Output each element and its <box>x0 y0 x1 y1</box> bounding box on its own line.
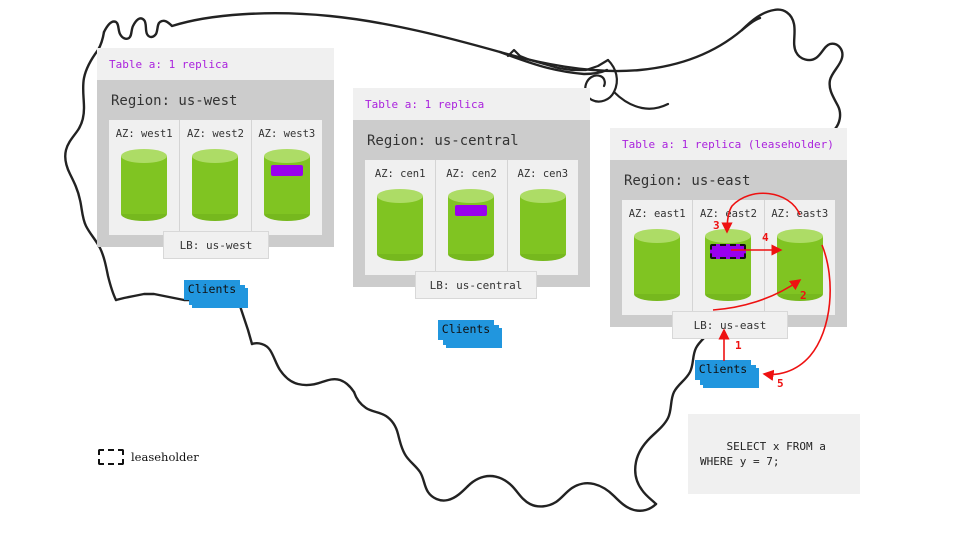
region-body-us-central: Region: us-central AZ: cen1 AZ: cen2 <box>353 120 590 287</box>
legend-leaseholder: leaseholder <box>98 449 199 465</box>
az-cell-east2[interactable]: AZ: east2 <box>693 200 764 315</box>
az-row-us-central: AZ: cen1 AZ: cen2 <box>365 160 578 275</box>
az-label-cen2: AZ: cen2 <box>446 169 497 180</box>
az-cell-east1[interactable]: AZ: east1 <box>622 200 693 315</box>
az-cell-west1[interactable]: AZ: west1 <box>109 120 180 235</box>
diagram-canvas: Table a: 1 replica Region: us-west AZ: w… <box>0 0 960 540</box>
cylinder-top <box>377 189 423 203</box>
node-cylinder-cen3[interactable] <box>520 189 566 261</box>
replica-marker-cen2 <box>455 205 487 216</box>
region-panel-us-west: Table a: 1 replica Region: us-west AZ: w… <box>97 48 334 247</box>
region-title-us-west: Region: us-west <box>109 80 322 120</box>
cylinder-body <box>377 196 423 254</box>
cylinder-body <box>777 236 823 294</box>
az-cell-west2[interactable]: AZ: west2 <box>180 120 251 235</box>
az-cell-cen2[interactable]: AZ: cen2 <box>436 160 507 275</box>
region-header-us-east: Table a: 1 replica (leaseholder) <box>610 128 847 160</box>
az-cell-cen3[interactable]: AZ: cen3 <box>508 160 578 275</box>
az-cell-cen1[interactable]: AZ: cen1 <box>365 160 436 275</box>
sql-query-box: SELECT x FROM a WHERE y = 7; <box>688 414 860 494</box>
az-label-west2: AZ: west2 <box>187 129 244 140</box>
region-title-us-east: Region: us-east <box>622 160 835 200</box>
sql-query-text: SELECT x FROM a WHERE y = 7; <box>700 440 826 468</box>
arrow-label-2: 2 <box>800 290 807 301</box>
node-cylinder-west1[interactable] <box>121 149 167 221</box>
clients-label-us-west[interactable]: Clients <box>184 280 240 300</box>
az-row-us-west: AZ: west1 AZ: west2 <box>109 120 322 235</box>
dashed-rect-icon <box>98 449 124 465</box>
node-cylinder-cen2[interactable] <box>448 189 494 261</box>
node-cylinder-west3[interactable] <box>264 149 310 221</box>
az-cell-west3[interactable]: AZ: west3 <box>252 120 322 235</box>
lb-label-us-central: LB: us-central <box>430 280 523 291</box>
az-label-cen3: AZ: cen3 <box>518 169 569 180</box>
load-balancer-us-east[interactable]: LB: us-east <box>672 311 788 339</box>
node-cylinder-west2[interactable] <box>192 149 238 221</box>
clients-label-us-central[interactable]: Clients <box>438 320 494 340</box>
arrow-label-1: 1 <box>735 340 742 351</box>
cylinder-top <box>264 149 310 163</box>
arrow-label-3: 3 <box>713 220 720 231</box>
az-label-east3: AZ: east3 <box>771 209 828 220</box>
load-balancer-us-central[interactable]: LB: us-central <box>415 271 537 299</box>
region-panel-us-east: Table a: 1 replica (leaseholder) Region:… <box>610 128 847 327</box>
region-body-us-west: Region: us-west AZ: west1 AZ: west2 <box>97 80 334 247</box>
cylinder-top <box>121 149 167 163</box>
replica-marker-west3 <box>271 165 303 176</box>
arrow-label-5: 5 <box>777 378 784 389</box>
node-cylinder-east2[interactable] <box>705 229 751 301</box>
leaseholder-marker-east2 <box>710 244 746 259</box>
cylinder-body <box>121 156 167 214</box>
region-body-us-east: Region: us-east AZ: east1 AZ: east2 <box>610 160 847 327</box>
region-header-us-central: Table a: 1 replica <box>353 88 590 120</box>
clients-label-us-east[interactable]: Clients <box>695 360 751 380</box>
cylinder-top <box>777 229 823 243</box>
region-panel-us-central: Table a: 1 replica Region: us-central AZ… <box>353 88 590 287</box>
legend-label: leaseholder <box>131 450 199 464</box>
arrow-label-4: 4 <box>762 232 769 243</box>
load-balancer-us-west[interactable]: LB: us-west <box>163 231 269 259</box>
region-header-us-west: Table a: 1 replica <box>97 48 334 80</box>
cylinder-top <box>520 189 566 203</box>
cylinder-body <box>192 156 238 214</box>
cylinder-top <box>634 229 680 243</box>
az-label-east1: AZ: east1 <box>629 209 686 220</box>
clients-us-west[interactable]: Clients <box>184 280 248 306</box>
cylinder-body <box>520 196 566 254</box>
cylinder-body <box>634 236 680 294</box>
clients-us-east[interactable]: Clients <box>695 360 759 386</box>
node-cylinder-east1[interactable] <box>634 229 680 301</box>
az-label-east2: AZ: east2 <box>700 209 757 220</box>
lb-label-us-west: LB: us-west <box>180 240 253 251</box>
region-title-us-central: Region: us-central <box>365 120 578 160</box>
lb-label-us-east: LB: us-east <box>694 320 767 331</box>
az-label-cen1: AZ: cen1 <box>375 169 426 180</box>
node-cylinder-cen1[interactable] <box>377 189 423 261</box>
az-label-west1: AZ: west1 <box>116 129 173 140</box>
clients-us-central[interactable]: Clients <box>438 320 502 346</box>
az-label-west3: AZ: west3 <box>258 129 315 140</box>
